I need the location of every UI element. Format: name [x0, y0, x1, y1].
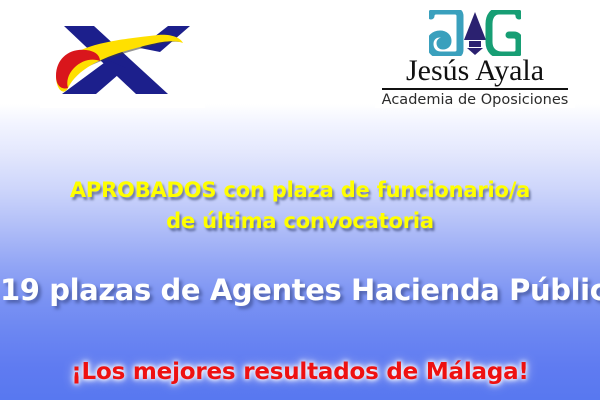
headline-white-main: 19 plazas de Agentes Hacienda Pública — [0, 272, 600, 308]
headline-yellow-line-2: de última convocatoria — [0, 207, 600, 235]
message-block: APROBADOS con plaza de funcionario/a de … — [0, 0, 600, 400]
headline-red-tagline: ¡Los mejores resultados de Málaga! — [0, 357, 600, 387]
headline-yellow-line-1: APROBADOS con plaza de funcionario/a — [0, 176, 600, 204]
promo-banner: Jesús Ayala Academia de Oposiciones APRO… — [0, 0, 600, 400]
